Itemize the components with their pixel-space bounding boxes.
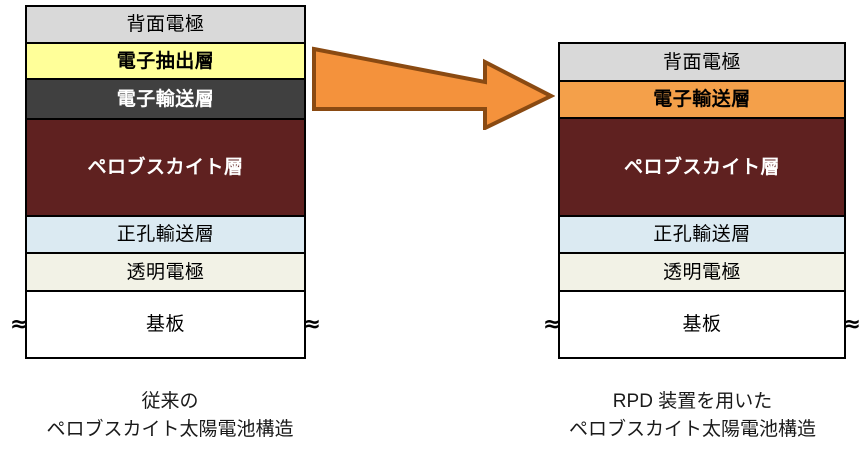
layer-back-electrode: 背面電極	[560, 44, 844, 82]
conventional-cell-stack: 背面電極電子抽出層電子輸送層ペロブスカイト層正孔輸送層透明電極基板≈≈	[25, 5, 306, 359]
layer-hole-transport-layer: 正孔輸送層	[27, 217, 304, 254]
layer-label-perovskite-layer: ペロブスカイト層	[624, 158, 780, 177]
arrow-shape	[310, 40, 555, 130]
layer-label-electron-transport-layer: 電子輸送層	[653, 90, 751, 109]
layer-transparent-electrode: 透明電極	[27, 254, 304, 292]
layer-label-substrate: 基板	[682, 315, 721, 334]
arrow-polygon	[314, 49, 551, 128]
rpd-cell-stack: 背面電極電子輸送層ペロブスカイト層正孔輸送層透明電極基板≈≈	[558, 42, 846, 359]
layer-label-back-electrode: 背面電極	[663, 53, 741, 72]
layer-hole-transport-layer: 正孔輸送層	[560, 217, 844, 254]
layer-label-hole-transport-layer: 正孔輸送層	[117, 225, 215, 244]
break-mark-left-icon: ≈	[543, 314, 561, 336]
caption-left: 従来の ペロブスカイト太陽電池構造	[0, 388, 340, 443]
layer-label-transparent-electrode: 透明電極	[663, 263, 741, 282]
layer-electron-transport-layer: 電子輸送層	[27, 80, 304, 120]
transformation-arrow	[310, 40, 555, 130]
caption-right-line2: ペロブスカイト太陽電池構造	[520, 416, 865, 444]
caption-right: RPD 装置を用いた ペロブスカイト太陽電池構造	[520, 388, 865, 443]
break-mark-right-icon: ≈	[843, 314, 861, 336]
break-mark-left-icon: ≈	[10, 314, 28, 336]
break-mark-right-icon: ≈	[303, 314, 321, 336]
layer-label-back-electrode: 背面電極	[126, 15, 204, 34]
caption-left-line1: 従来の	[0, 388, 340, 416]
caption-right-line1: RPD 装置を用いた	[520, 388, 865, 416]
layer-back-electrode: 背面電極	[27, 7, 304, 44]
layer-label-electron-transport-layer: 電子輸送層	[117, 90, 215, 109]
layer-label-hole-transport-layer: 正孔輸送層	[653, 225, 751, 244]
layer-label-electron-extraction-layer: 電子抽出層	[117, 52, 215, 71]
caption-left-line2: ペロブスカイト太陽電池構造	[0, 416, 340, 444]
layer-electron-transport-layer: 電子輸送層	[560, 82, 844, 119]
layer-label-substrate: 基板	[146, 315, 185, 334]
layer-perovskite-layer: ペロブスカイト層	[27, 120, 304, 217]
layer-substrate: 基板≈≈	[560, 292, 844, 357]
layer-perovskite-layer: ペロブスカイト層	[560, 119, 844, 217]
layer-electron-extraction-layer: 電子抽出層	[27, 44, 304, 80]
layer-label-perovskite-layer: ペロブスカイト層	[87, 158, 243, 177]
layer-substrate: 基板≈≈	[27, 292, 304, 357]
layer-label-transparent-electrode: 透明電極	[126, 263, 204, 282]
layer-transparent-electrode: 透明電極	[560, 254, 844, 292]
